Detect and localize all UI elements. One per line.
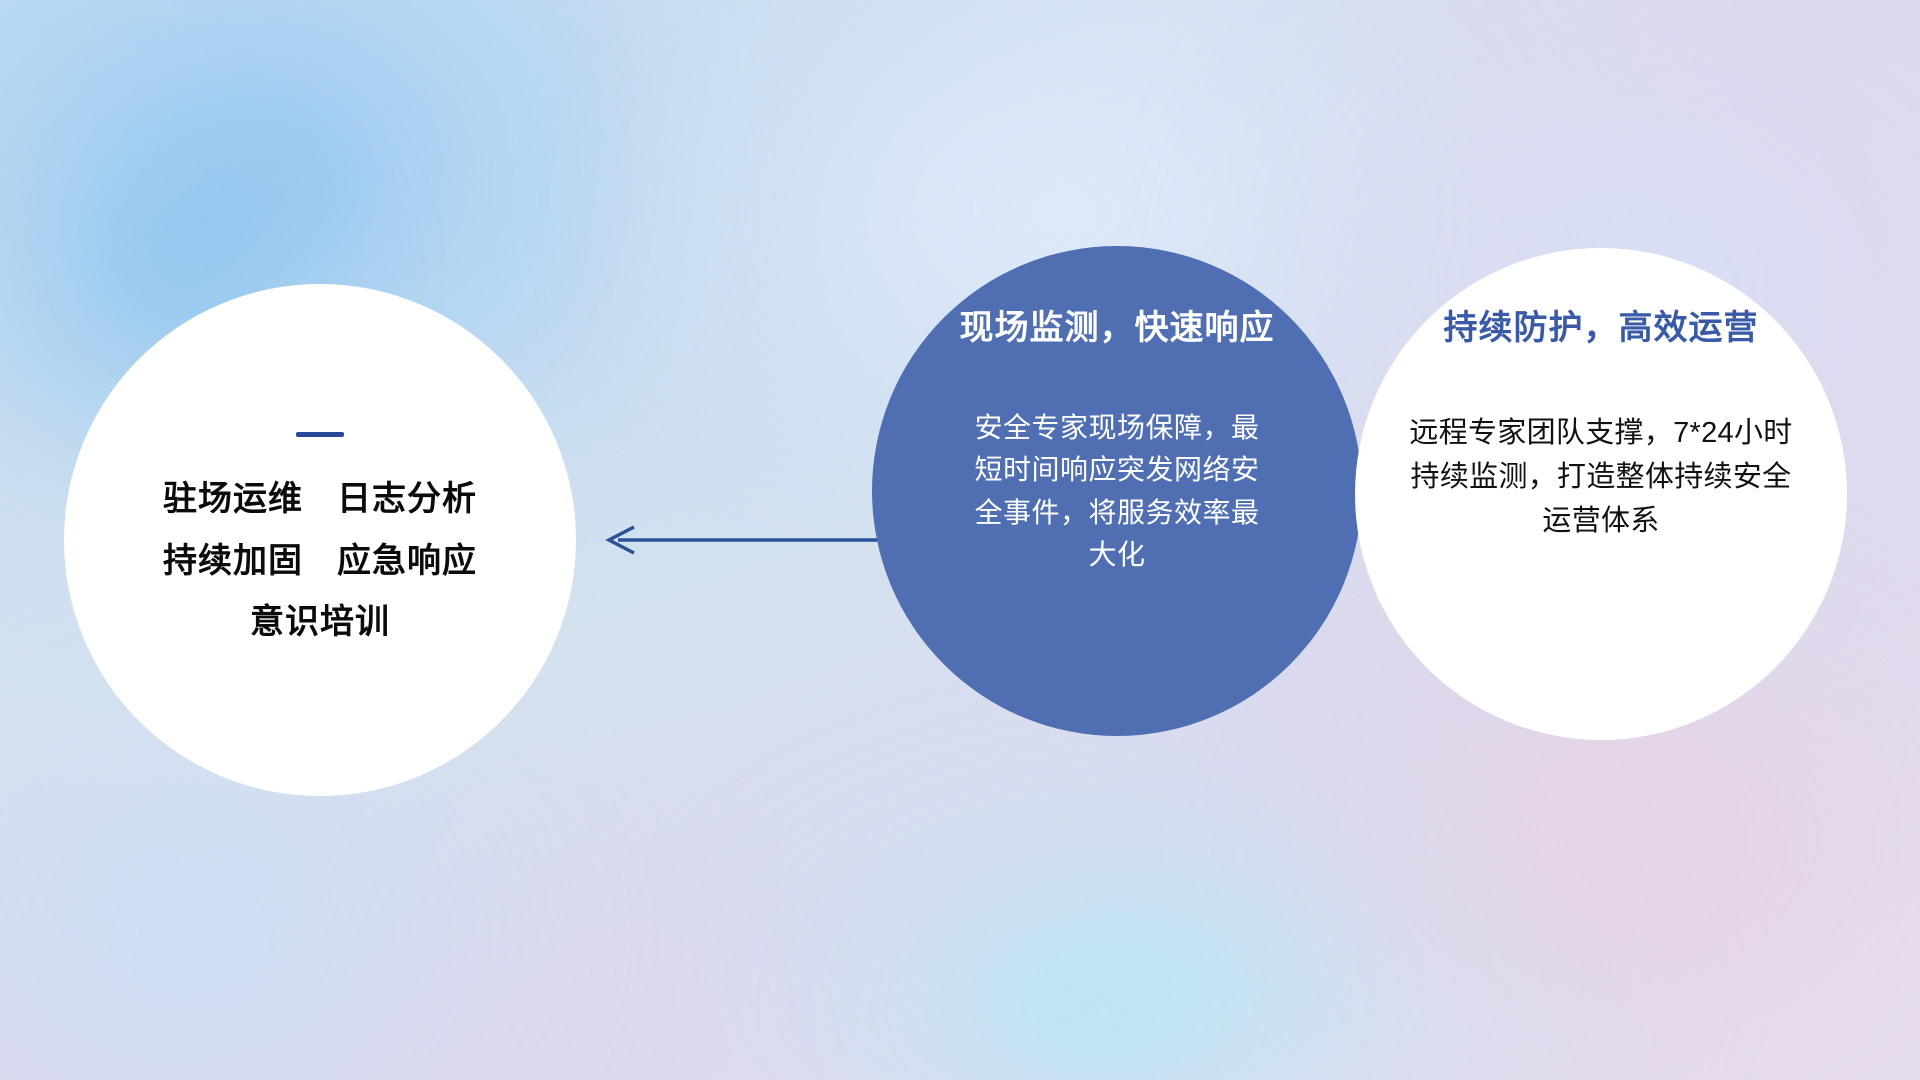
service-capabilities-circle: 驻场运维 日志分析 持续加固 应急响应 意识培训 bbox=[64, 284, 576, 796]
onsite-monitoring-circle: 现场监测，快速响应 安全专家现场保障，最短时间响应突发网络安全事件，将服务效率最… bbox=[872, 246, 1362, 736]
capability-tag: 驻场运维 bbox=[163, 481, 303, 518]
continuous-protection-body: 远程专家团队支撑，7*24小时持续监测，打造整体持续安全运营体系 bbox=[1401, 411, 1801, 543]
background-glow-accent-bottom bbox=[820, 840, 1360, 1080]
capability-tag: 意识培训 bbox=[250, 604, 390, 641]
capability-tag: 日志分析 bbox=[337, 481, 477, 518]
onsite-monitoring-body: 安全专家现场保障，最短时间响应突发网络安全事件，将服务效率最大化 bbox=[962, 407, 1272, 577]
capability-tag-row: 持续加固 应急响应 bbox=[163, 543, 477, 580]
capability-tag-list: 驻场运维 日志分析 持续加固 应急响应 意识培训 bbox=[163, 481, 477, 641]
onsite-monitoring-title: 现场监测，快速响应 bbox=[960, 308, 1275, 349]
leftward-flow-arrow bbox=[596, 516, 888, 564]
capability-tag-row: 意识培训 bbox=[250, 604, 390, 641]
continuous-protection-title: 持续防护，高效运营 bbox=[1444, 308, 1759, 349]
capability-tag: 应急响应 bbox=[337, 543, 477, 580]
continuous-protection-circle: 持续防护，高效运营 远程专家团队支撑，7*24小时持续监测，打造整体持续安全运营… bbox=[1355, 248, 1847, 740]
slide-canvas: 驻场运维 日志分析 持续加固 应急响应 意识培训 现场监测，快速响应 安全专家现… bbox=[0, 0, 1920, 1080]
divider-dash-icon bbox=[296, 432, 344, 437]
capability-tag: 持续加固 bbox=[163, 543, 303, 580]
capability-tag-row: 驻场运维 日志分析 bbox=[163, 481, 477, 518]
